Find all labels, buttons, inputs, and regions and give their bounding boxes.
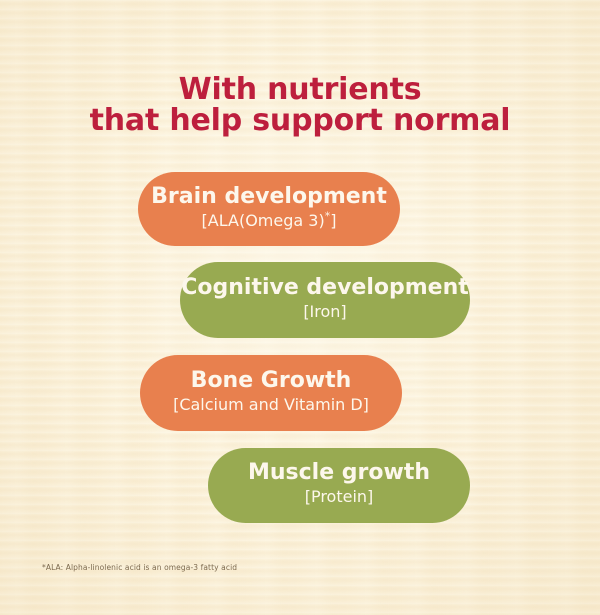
- nutrition-infographic-poster: With nutrients that help support normal …: [0, 0, 600, 615]
- benefit-title: Bone Growth: [191, 368, 352, 394]
- benefit-title: Cognitive development: [181, 275, 469, 301]
- benefit-pill-muscle-growth: Muscle growth [Protein]: [208, 448, 470, 523]
- benefit-pill-bone-growth: Bone Growth [Calcium and Vitamin D]: [140, 355, 402, 431]
- benefit-nutrient: [Protein]: [305, 487, 374, 507]
- benefit-pill-cognitive-development: Cognitive development [Iron]: [180, 262, 470, 338]
- page-title-line-1: With nutrients: [0, 74, 600, 105]
- page-title-line-2: that help support normal: [0, 105, 600, 136]
- benefit-nutrient: [Iron]: [303, 302, 346, 322]
- benefit-nutrient-text: [ALA(Omega 3): [202, 211, 325, 230]
- benefit-title: Muscle growth: [248, 460, 430, 486]
- benefit-pill-brain-development: Brain development [ALA(Omega 3)*]: [138, 172, 400, 246]
- benefit-title: Brain development: [151, 184, 387, 210]
- page-title: With nutrients that help support normal: [0, 74, 600, 136]
- benefit-nutrient: [Calcium and Vitamin D]: [173, 395, 369, 415]
- benefit-nutrient-bracket-close: ]: [330, 211, 336, 230]
- benefit-nutrient: [ALA(Omega 3)*]: [202, 211, 337, 231]
- footnote-text: *ALA: Alpha-linolenic acid is an omega-3…: [42, 562, 237, 573]
